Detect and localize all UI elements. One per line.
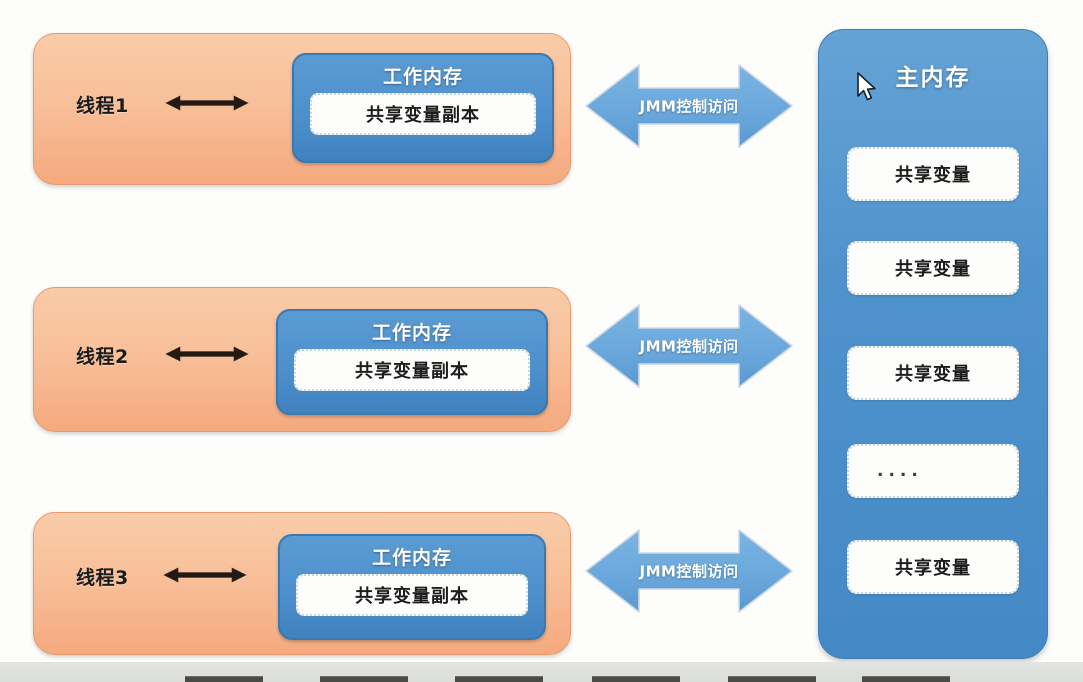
thread-exchange-arrow-icon-3 [162,564,248,586]
shared-variable-slot-4: 共享变量 [847,540,1019,594]
thread-label-2: 线程2 [76,342,129,369]
shared-variable-slot-label-ellipsis: .... [877,461,923,481]
working-memory-box-3: 工作内存 共享变量副本 [278,534,546,640]
shared-variable-copy-2: 共享变量副本 [294,349,530,391]
bottom-chrome-strip [0,662,1083,682]
thread-label-1: 线程1 [76,91,129,118]
working-memory-title-1: 工作内存 [294,62,552,89]
taskbar-thumb-1[interactable] [185,676,263,682]
shared-variable-slot-3: 共享变量 [847,346,1019,400]
working-memory-title-2: 工作内存 [278,318,546,345]
shared-variable-copy-label-3: 共享变量副本 [355,582,469,608]
working-memory-box-2: 工作内存 共享变量副本 [276,309,548,415]
thread-label-3: 线程3 [76,563,129,590]
diagram-canvas: 线程1 工作内存 共享变量副本 线程2 工作内存 共享变量副本 [0,0,1083,682]
thread-block-1: 线程1 工作内存 共享变量副本 [33,33,571,185]
taskbar-thumb-6[interactable] [862,676,950,682]
taskbar-thumb-3[interactable] [455,676,543,682]
thread-block-2: 线程2 工作内存 共享变量副本 [33,287,571,432]
shared-variable-slot-label-2: 共享变量 [895,255,971,281]
jmm-access-arrow-1: JMM控制访问 [583,60,795,152]
shared-variable-copy-label-1: 共享变量副本 [366,101,480,127]
jmm-access-arrow-3: JMM控制访问 [583,525,795,617]
shared-variable-copy-3: 共享变量副本 [296,574,528,616]
shared-variable-copy-label-2: 共享变量副本 [355,357,469,383]
shared-variable-slot-label-1: 共享变量 [895,161,971,187]
thread-exchange-arrow-icon-1 [164,92,250,114]
working-memory-title-3: 工作内存 [280,543,544,570]
main-memory-title: 主内存 [819,58,1047,92]
shared-variable-slot-2: 共享变量 [847,241,1019,295]
thread-block-3: 线程3 工作内存 共享变量副本 [33,512,571,655]
working-memory-box-1: 工作内存 共享变量副本 [292,53,554,163]
taskbar-thumb-2[interactable] [320,676,408,682]
shared-variable-copy-1: 共享变量副本 [310,93,536,135]
taskbar-thumb-4[interactable] [592,676,680,682]
jmm-access-arrow-2: JMM控制访问 [583,300,795,392]
taskbar-thumb-5[interactable] [728,676,816,682]
shared-variable-slot-ellipsis: .... [847,444,1019,498]
shared-variable-slot-1: 共享变量 [847,147,1019,201]
shared-variable-slot-label-3: 共享变量 [895,360,971,386]
shared-variable-slot-label-4: 共享变量 [895,554,971,580]
main-memory-panel: 主内存 共享变量 共享变量 共享变量 .... 共享变量 [818,29,1048,659]
thread-exchange-arrow-icon-2 [164,343,250,365]
